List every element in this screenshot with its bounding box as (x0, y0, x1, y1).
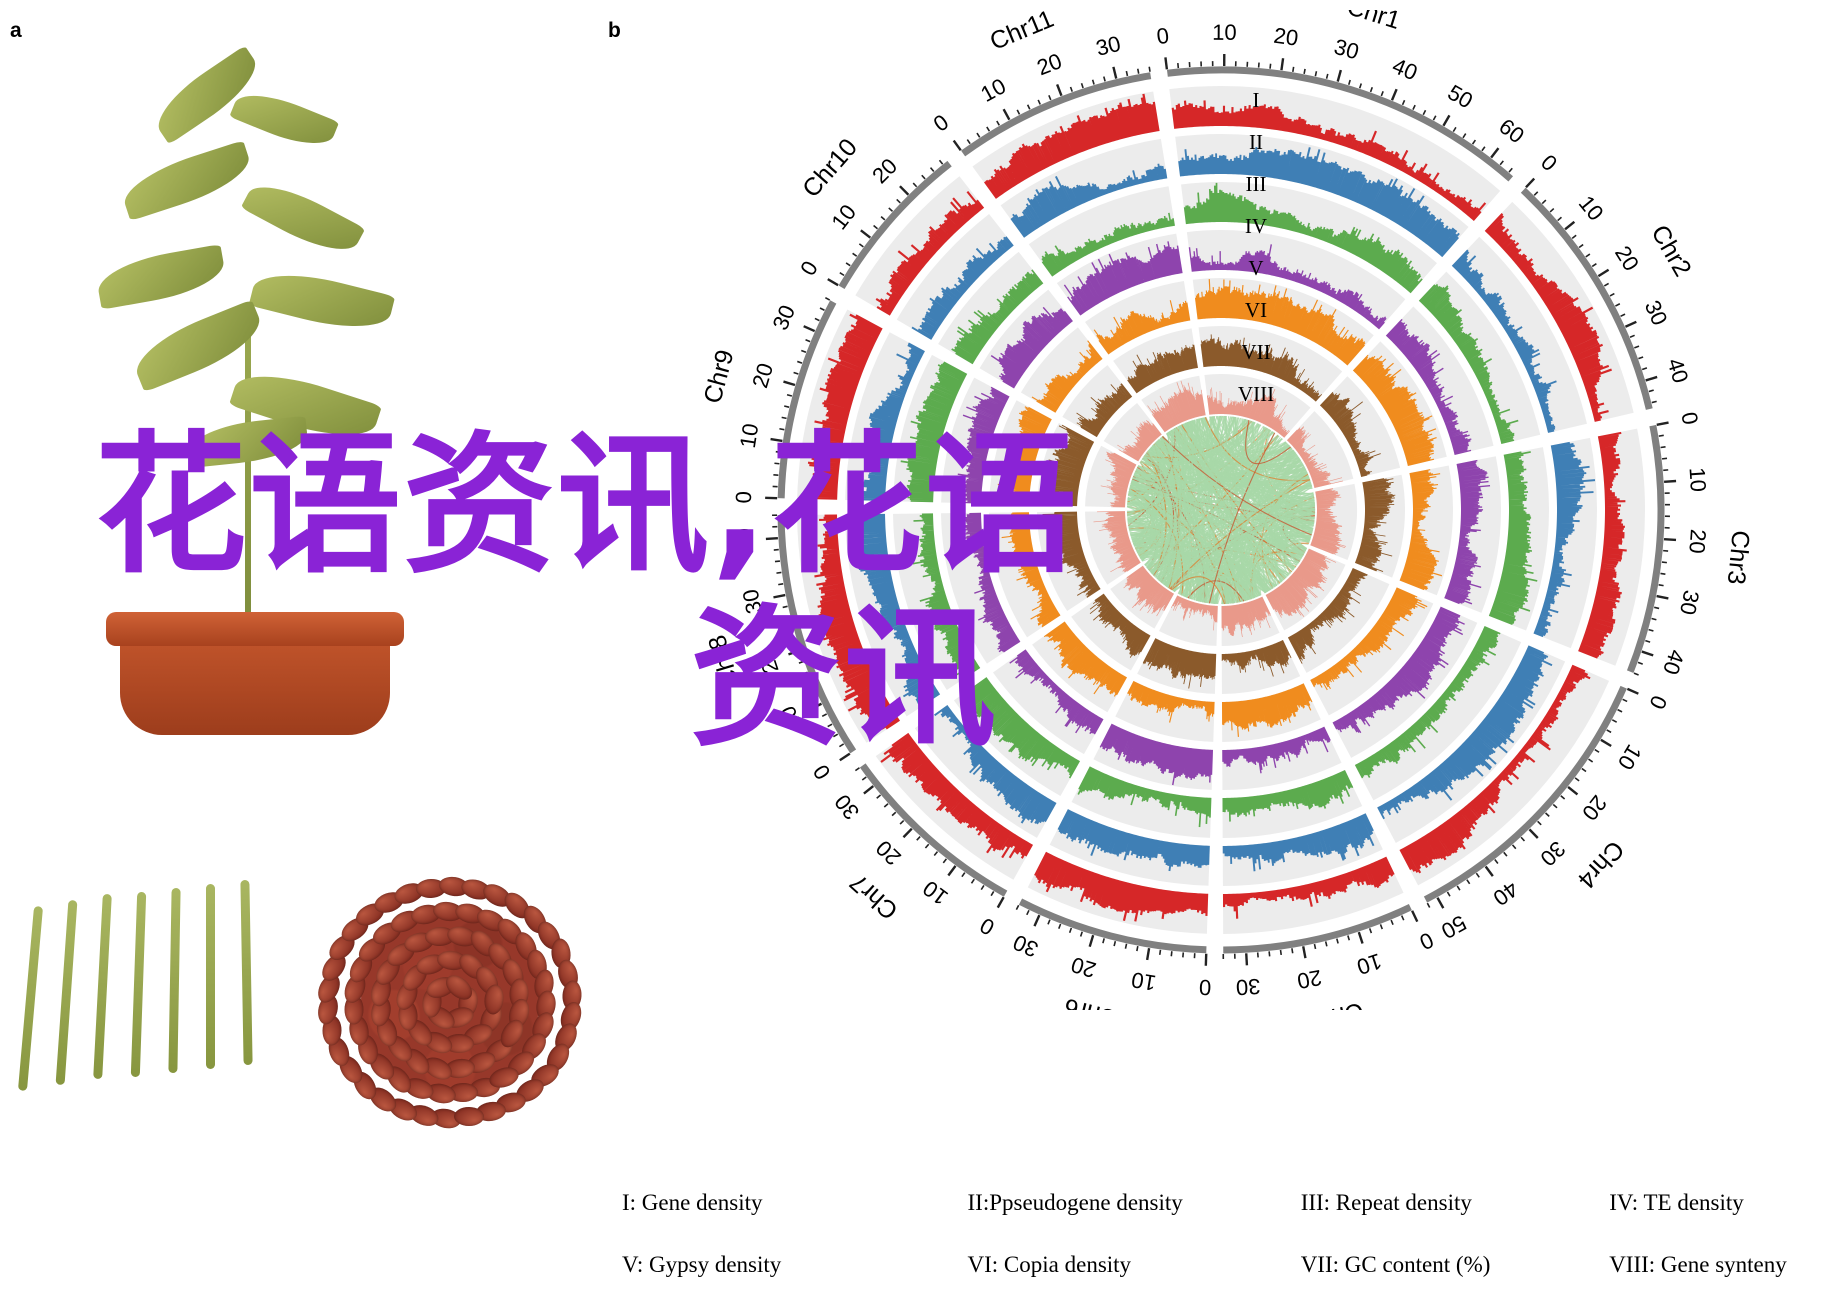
axis-minor-tick (1546, 813, 1550, 816)
axis-minor-tick (1495, 860, 1498, 864)
axis-tick-label: 0 (795, 257, 823, 280)
axis-major-tick (1392, 89, 1397, 100)
pod (56, 900, 78, 1085)
axis-minor-tick (1652, 618, 1657, 619)
axis-tick-label: 30 (1675, 588, 1704, 617)
axis-minor-tick (820, 308, 824, 310)
circos-legend: I: Gene densityII:Ppseudogene densityIII… (604, 1190, 1838, 1314)
chromosome-label: Chr9 (699, 347, 740, 407)
chromosome-label: Chr3 (1722, 529, 1755, 586)
axis-minor-tick (785, 618, 790, 619)
axis-minor-tick (853, 253, 857, 256)
synteny-links (1127, 416, 1315, 604)
axis-minor-tick (1016, 905, 1018, 909)
axis-major-tick (1664, 481, 1676, 482)
axis-minor-tick (1550, 209, 1554, 212)
axis-tick-label: 0 (1644, 692, 1672, 713)
axis-minor-tick (782, 417, 787, 418)
axis-minor-tick (967, 140, 970, 144)
axis-minor-tick (1572, 235, 1576, 238)
axis-major-tick (811, 704, 822, 709)
axis-minor-tick (1558, 217, 1562, 220)
axis-minor-tick (962, 873, 965, 877)
axis-major-tick (1113, 67, 1116, 79)
axis-major-tick (1625, 322, 1636, 327)
axis-major-tick (1437, 898, 1443, 908)
axis-minor-tick (1293, 67, 1294, 72)
axis-tick-label: 0 (929, 109, 954, 136)
axis-tick-label: 0 (808, 760, 836, 784)
leaf (94, 244, 228, 310)
axis-minor-tick (1659, 435, 1664, 436)
axis-minor-tick (1579, 245, 1583, 248)
axis-minor-tick (859, 244, 863, 247)
axis-tick-label: 30 (767, 301, 800, 333)
chromosome-label: Chr5 (1307, 997, 1366, 1010)
axis-minor-tick (1337, 939, 1338, 944)
legend-item: V: Gypsy density (604, 1252, 968, 1278)
axis-minor-tick (1447, 892, 1450, 896)
axis-tick-label: 0 (1536, 150, 1562, 177)
axis-major-tick (1281, 58, 1283, 70)
circos-plot: 0102030405060Chr1010203040Chr2010203040C… (604, 10, 1838, 1010)
axis-minor-tick (1304, 69, 1305, 74)
axis-tick-label: 20 (1577, 791, 1612, 826)
axis-minor-tick (1423, 110, 1425, 114)
axis-tick-label: 30 (1535, 836, 1570, 871)
axis-minor-tick (812, 693, 817, 695)
axis-minor-tick (792, 640, 797, 641)
axis-minor-tick (787, 395, 792, 396)
axis-major-tick (954, 141, 961, 151)
axis-tick-label: 0 (1199, 975, 1212, 1000)
axis-tick-label: 0 (1416, 927, 1438, 955)
axis-minor-tick (931, 168, 934, 172)
axis-minor-tick (1314, 944, 1315, 949)
legend-item: VI: Copia density (968, 1252, 1301, 1278)
axis-major-tick (864, 786, 873, 793)
axis-minor-tick (987, 127, 990, 131)
axis-major-tick (998, 897, 1004, 907)
axis-minor-tick (1582, 769, 1586, 772)
axis-minor-tick (1457, 886, 1460, 890)
axis-major-tick (1664, 539, 1676, 540)
legend-row: V: Gypsy densityVI: Copia densityVII: GC… (604, 1252, 1838, 1278)
track-key-VIII: VIII (1226, 382, 1286, 407)
axis-minor-tick (1292, 948, 1293, 953)
axis-tick-label: 10 (735, 422, 764, 450)
axis-tick-label: 30 (1235, 974, 1261, 1000)
axis-minor-tick (971, 879, 974, 883)
axis-minor-tick (778, 584, 783, 585)
axis-tick-label: 20 (1033, 48, 1065, 80)
chromosome-label: Chr11 (986, 10, 1058, 56)
axis-minor-tick (1413, 105, 1415, 110)
axis-minor-tick (1654, 607, 1659, 608)
axis-minor-tick (997, 121, 999, 125)
axis-minor-tick (1027, 910, 1029, 915)
chromosome-label: Chr10 (797, 133, 863, 203)
axis-minor-tick (784, 406, 789, 407)
axis-minor-tick (1638, 357, 1643, 359)
axis-minor-tick (1473, 140, 1476, 144)
axis-tick-label: 30 (1640, 297, 1673, 330)
axis-minor-tick (1348, 935, 1349, 940)
axis-minor-tick (991, 891, 994, 895)
axis-minor-tick (943, 859, 946, 863)
axis-major-tick (1526, 179, 1534, 188)
panel-b: b 0102030405060Chr1010203040Chr201020304… (604, 10, 1838, 1316)
axis-minor-tick (1360, 83, 1362, 88)
axis-minor-tick (1093, 80, 1094, 85)
axis-minor-tick (1028, 105, 1030, 110)
axis-minor-tick (1138, 69, 1139, 74)
axis-minor-tick (1270, 64, 1271, 69)
axis-major-tick (903, 829, 911, 838)
axis-minor-tick (1612, 720, 1616, 722)
axis-major-tick (773, 595, 785, 597)
axis-minor-tick (1538, 821, 1542, 825)
axis-minor-tick (1660, 573, 1665, 574)
axis-tick-label: 30 (1093, 31, 1123, 61)
axis-tick-label: 40 (731, 527, 758, 553)
axis-minor-tick (1553, 804, 1557, 807)
axis-minor-tick (1645, 641, 1650, 642)
legend-item: III: Repeat density (1301, 1190, 1610, 1216)
axis-tick-label: 10 (1130, 967, 1158, 996)
axis-minor-tick (1391, 920, 1393, 925)
legend-row: I: Gene densityII:Ppseudogene densityIII… (604, 1190, 1838, 1216)
axis-minor-tick (1082, 83, 1084, 88)
axis-tick-label: 10 (1684, 467, 1711, 493)
track-key-VII: VII (1226, 340, 1286, 365)
axis-minor-tick (1017, 110, 1019, 114)
axis-major-tick (900, 186, 908, 195)
leaf (249, 263, 395, 340)
axis-tick-label: 20 (1068, 952, 1099, 983)
axis-minor-tick (1500, 161, 1503, 165)
axis-major-tick (1034, 915, 1039, 926)
axis-minor-tick (862, 777, 866, 780)
axis-minor-tick (794, 372, 799, 374)
track-key-II: II (1226, 130, 1286, 155)
axis-minor-tick (1642, 368, 1647, 370)
legend-item: II:Ppseudogene density (968, 1190, 1301, 1216)
axis-minor-tick (1623, 699, 1628, 701)
axis-minor-tick (1070, 928, 1072, 933)
axis-major-tick (1165, 57, 1166, 69)
axis-major-tick (1090, 935, 1093, 946)
axis-minor-tick (1649, 630, 1654, 631)
axis-minor-tick (1607, 730, 1611, 732)
axis-major-tick (1338, 70, 1341, 82)
track-key-III: III (1226, 172, 1286, 197)
axis-minor-tick (1380, 924, 1382, 929)
panel-a-label: a (10, 20, 22, 41)
track-key-IV: IV (1226, 214, 1286, 239)
axis-major-tick (1529, 829, 1537, 838)
axis-major-tick (1565, 222, 1574, 230)
axis-minor-tick (1634, 346, 1639, 348)
axis-major-tick (804, 326, 815, 331)
track-background (1222, 640, 1300, 694)
axis-major-tick (1303, 946, 1305, 958)
axis-minor-tick (874, 226, 878, 229)
axis-minor-tick (1315, 71, 1316, 76)
axis-minor-tick (1081, 932, 1083, 937)
axis-minor-tick (917, 837, 920, 841)
axis-minor-tick (934, 852, 937, 856)
pod (240, 880, 252, 1065)
axis-minor-tick (981, 885, 984, 889)
panel-a: a (0, 0, 600, 1316)
pod (131, 892, 146, 1077)
axis-minor-tick (1160, 950, 1161, 955)
axis-minor-tick (806, 340, 811, 342)
pod (18, 906, 43, 1091)
axis-minor-tick (1618, 710, 1622, 712)
axis-minor-tick (1476, 873, 1479, 877)
axis-minor-tick (776, 572, 781, 573)
axis-minor-tick (1662, 458, 1667, 459)
axis-minor-tick (825, 298, 829, 300)
axis-tick-label: 10 (1613, 740, 1647, 774)
axis-minor-tick (1327, 74, 1328, 79)
axis-major-tick (1601, 740, 1611, 746)
axis-minor-tick (1586, 254, 1590, 257)
axis-minor-tick (1463, 134, 1466, 138)
axis-minor-tick (839, 744, 843, 747)
axis-minor-tick (1049, 95, 1051, 100)
axis-major-tick (1246, 953, 1247, 965)
axis-major-tick (771, 439, 783, 441)
legend-item: VIII: Gene synteny (1609, 1252, 1838, 1278)
axis-major-tick (1359, 932, 1363, 943)
axis-major-tick (861, 230, 870, 237)
axis-minor-tick (1575, 778, 1579, 781)
leaf (188, 416, 310, 468)
axis-major-tick (1147, 948, 1149, 960)
axis-tick-label: 10 (918, 876, 953, 911)
leaf (241, 172, 366, 264)
pod (93, 894, 112, 1079)
axis-tick-label: 40 (1389, 53, 1421, 86)
axis-minor-tick (1561, 796, 1565, 799)
axis-minor-tick (807, 683, 812, 685)
axis-minor-tick (1126, 71, 1127, 76)
axis-minor-tick (1104, 77, 1105, 82)
axis-major-tick (840, 754, 850, 761)
axis-minor-tick (1403, 100, 1405, 105)
axis-minor-tick (846, 263, 850, 266)
green-pods-photo (20, 880, 290, 1120)
track-key-V: V (1226, 256, 1286, 281)
axis-minor-tick (1652, 401, 1657, 402)
flower-pot (120, 630, 390, 735)
axis-minor-tick (1630, 335, 1635, 337)
axis-minor-tick (922, 175, 925, 179)
pod (168, 888, 180, 1073)
axis-minor-tick (1482, 147, 1485, 151)
axis-minor-tick (855, 768, 859, 771)
axis-minor-tick (783, 606, 788, 607)
axis-minor-tick (1281, 950, 1282, 955)
axis-minor-tick (1125, 944, 1126, 949)
axis-minor-tick (1509, 168, 1512, 172)
chromosome-label: Chr2 (1645, 220, 1696, 281)
axis-tick-label: 10 (1574, 191, 1609, 226)
axis-tick-label: 30 (830, 790, 865, 825)
chromosome-label: Chr1 (1344, 10, 1404, 35)
axis-minor-tick (897, 199, 901, 202)
axis-tick-label: 30 (1331, 34, 1361, 65)
axis-tick-label: 50 (1437, 910, 1471, 944)
axis-minor-tick (1171, 951, 1172, 956)
axis-minor-tick (913, 183, 916, 187)
axis-tick-label: 20 (867, 153, 902, 188)
axis-tick-label: 40 (1662, 355, 1693, 386)
axis-minor-tick (1453, 127, 1456, 131)
axis-major-tick (788, 651, 799, 655)
leaf (118, 140, 257, 221)
axis-minor-tick (775, 561, 780, 562)
axis-major-tick (948, 866, 955, 876)
axis-major-tick (1491, 148, 1498, 158)
axis-minor-tick (939, 160, 942, 164)
axis-minor-tick (1114, 941, 1115, 946)
potted-adzuki-bean-plant-photo (40, 30, 560, 730)
axis-minor-tick (925, 844, 928, 848)
axis-tick-label: 20 (1272, 23, 1300, 51)
axis-minor-tick (1662, 562, 1667, 563)
axis-tick-label: 30 (1009, 929, 1042, 962)
axis-minor-tick (1589, 759, 1593, 762)
axis-major-tick (1568, 787, 1577, 794)
axis-minor-tick (1634, 673, 1639, 675)
axis-minor-tick (977, 133, 980, 137)
axis-minor-tick (1269, 951, 1270, 956)
axis-major-tick (783, 382, 795, 385)
axis-minor-tick (1659, 585, 1664, 586)
axis-major-tick (1598, 270, 1608, 276)
axis-tick-label: 40 (1488, 876, 1523, 911)
axis-minor-tick (877, 795, 881, 798)
axis-minor-tick (884, 804, 888, 807)
axis-major-tick (1004, 109, 1010, 120)
axis-minor-tick (822, 714, 826, 716)
axis-minor-tick (1592, 264, 1596, 267)
axis-major-tick (1657, 423, 1669, 425)
axis-tick-label: 10 (977, 73, 1010, 107)
axis-tick-label: 10 (775, 702, 808, 735)
axis-tick-label: 60 (1494, 114, 1529, 149)
axis-tick-label: 10 (1212, 20, 1237, 45)
legend-item: IV: TE density (1609, 1190, 1838, 1216)
axis-minor-tick (1349, 80, 1350, 85)
axis-tick-label: 0 (731, 491, 756, 504)
axis-minor-tick (1381, 91, 1383, 96)
axis-major-tick (828, 279, 838, 285)
chromosome-label: Chr4 (1572, 835, 1630, 894)
axis-minor-tick (1542, 200, 1546, 203)
chromosome-label: Chr8 (703, 632, 746, 692)
track-key-I: I (1226, 88, 1286, 113)
axis-major-tick (1057, 84, 1061, 95)
axis-minor-tick (1513, 845, 1516, 849)
axis-major-tick (1657, 596, 1669, 598)
axis-tick-label: 30 (738, 587, 767, 616)
axis-minor-tick (1149, 67, 1150, 72)
axis-minor-tick (1371, 87, 1373, 92)
axis-minor-tick (840, 273, 844, 276)
axis-minor-tick (1604, 283, 1608, 286)
axis-minor-tick (1661, 447, 1666, 448)
axis-tick-label: 20 (1684, 528, 1711, 554)
axis-minor-tick (1610, 294, 1614, 296)
axis-minor-tick (801, 351, 806, 353)
axis-minor-tick (1071, 87, 1073, 92)
axis-minor-tick (815, 318, 820, 320)
axis-major-tick (1412, 911, 1417, 922)
leaf (229, 83, 339, 155)
axis-minor-tick (1402, 916, 1404, 921)
axis-minor-tick (1326, 941, 1327, 946)
axis-major-tick (1486, 866, 1493, 876)
axis-minor-tick (1048, 920, 1050, 925)
axis-minor-tick (1427, 903, 1429, 907)
axis-tick-label: 20 (871, 835, 906, 870)
pod (206, 884, 215, 1069)
axis-tick-label: 50 (1443, 80, 1477, 114)
axis-minor-tick (833, 734, 837, 737)
axis-minor-tick (1638, 662, 1643, 664)
axis-minor-tick (1059, 924, 1061, 929)
axis-tick-label: 10 (1354, 948, 1385, 979)
axis-major-tick (1642, 652, 1653, 656)
axis-major-tick (766, 538, 778, 539)
axis-tick-label: 20 (752, 646, 783, 677)
axis-minor-tick (828, 724, 832, 726)
axis-tick-label: 0 (976, 913, 999, 941)
axis-tick-label: 10 (826, 200, 861, 235)
axis-tick-label: 20 (747, 360, 778, 391)
axis-minor-tick (1504, 852, 1507, 856)
track-key-VI: VI (1226, 298, 1286, 323)
axis-minor-tick (1467, 880, 1470, 884)
axis-minor-tick (1137, 946, 1138, 951)
axis-tick-label: 20 (1610, 241, 1644, 275)
axis-tick-label: 0 (1676, 410, 1703, 427)
axis-minor-tick (1370, 928, 1372, 933)
legend-item: VII: GC content (%) (1301, 1252, 1610, 1278)
axis-minor-tick (803, 672, 808, 674)
axis-major-tick (1627, 689, 1638, 694)
axis-minor-tick (779, 429, 784, 430)
axis-minor-tick (799, 661, 804, 663)
axis-minor-tick (774, 463, 779, 464)
axis-minor-tick (889, 208, 893, 211)
axis-tick-label: 0 (1155, 23, 1170, 49)
axis-major-tick (1646, 377, 1657, 381)
axis-minor-tick (776, 452, 781, 453)
axis-minor-tick (1521, 837, 1524, 841)
axis-minor-tick (788, 629, 793, 630)
axis-tick-label: 40 (1658, 647, 1690, 678)
axis-minor-tick (797, 361, 802, 363)
axis-minor-tick (1649, 390, 1654, 391)
chromosome-label: Chr6 (1061, 992, 1120, 1010)
axis-major-tick (1443, 115, 1449, 125)
